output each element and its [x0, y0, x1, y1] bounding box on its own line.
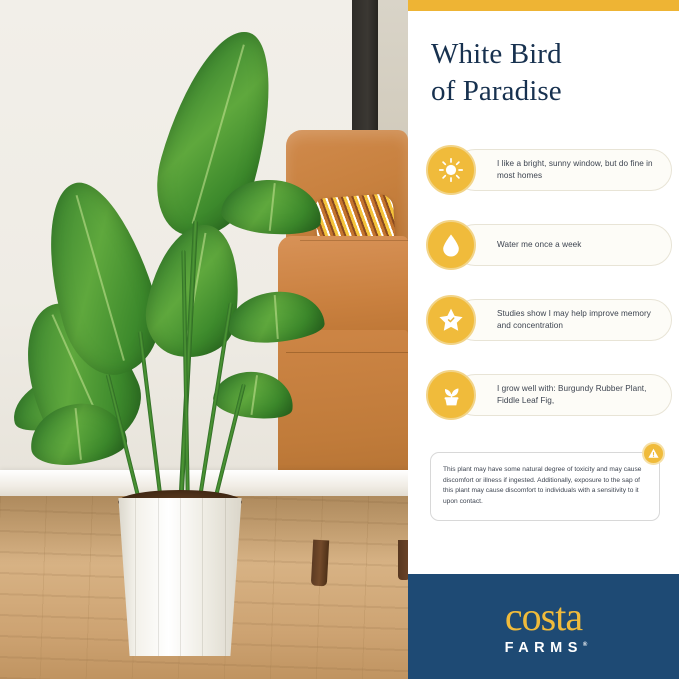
star-check-icon — [426, 295, 476, 345]
feature-benefit: Studies show I may help improve memory a… — [426, 295, 672, 345]
feature-text: Studies show I may help improve memory a… — [497, 308, 661, 332]
care-feature-list: I like a bright, sunny window, but do fi… — [426, 145, 672, 445]
feature-text: I like a bright, sunny window, but do fi… — [497, 158, 661, 182]
product-infographic: White Bird of Paradise I like a bright, … — [0, 0, 679, 679]
feature-pill: I grow well with: Burgundy Rubber Plant,… — [454, 374, 672, 416]
page-title: White Bird of Paradise — [431, 36, 666, 109]
feature-watering: Water me once a week — [426, 220, 672, 270]
feature-pill: Studies show I may help improve memory a… — [454, 299, 672, 341]
plant-pot — [110, 498, 250, 656]
feature-sunlight: I like a bright, sunny window, but do fi… — [426, 145, 672, 195]
disclaimer-text: This plant may have some natural degree … — [443, 465, 647, 508]
feature-text: I grow well with: Burgundy Rubber Plant,… — [497, 383, 661, 407]
gold-top-bar — [408, 0, 679, 11]
sofa-leg-right — [398, 540, 408, 580]
sofa-leg-left — [311, 540, 329, 587]
logo-wordmark-primary: costa — [500, 597, 588, 637]
sun-icon — [426, 145, 476, 195]
sofa-seam-upper — [300, 240, 408, 241]
water-drop-icon — [426, 220, 476, 270]
feature-companion-plants: I grow well with: Burgundy Rubber Plant,… — [426, 370, 672, 420]
registered-mark: ® — [583, 642, 587, 648]
feature-pill: I like a bright, sunny window, but do fi… — [454, 149, 672, 191]
logo-wordmark-secondary: FARMS® — [500, 641, 588, 656]
toxicity-disclaimer: This plant may have some natural degree … — [430, 452, 660, 521]
product-photo — [0, 0, 408, 679]
sofa-seam — [286, 352, 408, 353]
potted-plant-icon — [426, 370, 476, 420]
feature-pill: Water me once a week — [454, 224, 672, 266]
title-line-1: White Bird — [431, 36, 666, 73]
title-line-2: of Paradise — [431, 73, 666, 110]
brand-footer: costa FARMS® — [408, 574, 679, 679]
info-panel: White Bird of Paradise I like a bright, … — [408, 0, 679, 679]
feature-text: Water me once a week — [497, 239, 581, 251]
costa-farms-logo: costa FARMS® — [500, 597, 588, 656]
warning-triangle-icon — [642, 442, 665, 465]
